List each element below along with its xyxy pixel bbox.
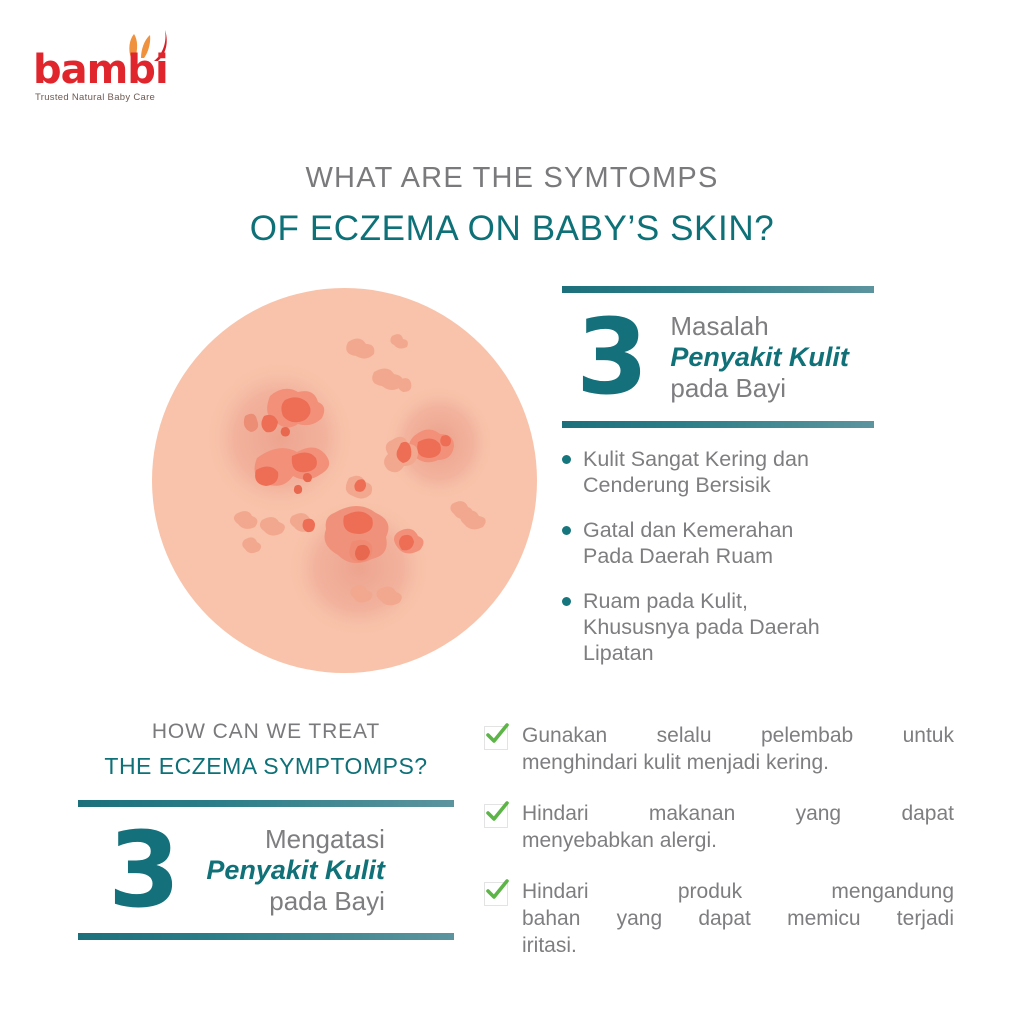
checkmark-icon xyxy=(484,882,508,906)
symptom-text: Gatal dan Kemerahan Pada Daerah Ruam xyxy=(583,517,793,569)
symptom-label-line-1: Masalah xyxy=(670,311,849,342)
title-line-1: WHAT ARE THE SYMTOMPS xyxy=(0,160,1024,196)
symptom-2-line-2: Pada Daerah Ruam xyxy=(583,544,773,568)
treat-title-line-2: THE ECZEMA SYMPTOMPS? xyxy=(78,750,454,782)
divider-top xyxy=(562,286,874,293)
page-title: WHAT ARE THE SYMTOMPS OF ECZEMA ON BABY’… xyxy=(0,160,1024,252)
symptom-3-line-3: Lipatan xyxy=(583,641,654,665)
symptom-text: Kulit Sangat Kering dan Cenderung Bersis… xyxy=(583,446,809,498)
treatment-2-line-1: Hindari makanan yang dapat xyxy=(522,800,954,827)
list-item: Kulit Sangat Kering dan Cenderung Bersis… xyxy=(562,446,892,498)
treatment-2-line-2: menyebabkan alergi. xyxy=(522,827,954,854)
brand-tagline: Trusted Natural Baby Care xyxy=(35,92,155,103)
symptom-text: Ruam pada Kulit, Khususnya pada Daerah L… xyxy=(583,588,820,666)
list-item: Ruam pada Kulit, Khususnya pada Daerah L… xyxy=(562,588,892,666)
symptom-3-line-1: Ruam pada Kulit, xyxy=(583,589,748,613)
brand-logo: bambi Trusted Natural Baby Care xyxy=(33,28,178,106)
symptom-count-number: 3 xyxy=(576,305,648,409)
treatment-1-line-2: menghindari kulit menjadi kering. xyxy=(522,749,954,776)
checkmark-icon xyxy=(484,726,508,750)
treatment-text: Hindari produk mengandung bahan yang dap… xyxy=(522,878,954,959)
treat-label-line-2: Penyakit Kulit xyxy=(206,855,385,886)
treat-label-line-1: Mengatasi xyxy=(206,824,385,855)
treatment-text: Hindari makanan yang dapat menyebabkan a… xyxy=(522,800,954,854)
treatment-list: Gunakan selalu pelembab untuk menghindar… xyxy=(484,722,954,983)
treatment-1-line-1: Gunakan selalu pelembab untuk xyxy=(522,722,954,749)
checkmark-icon xyxy=(484,804,508,828)
symptom-list: Kulit Sangat Kering dan Cenderung Bersis… xyxy=(562,446,892,685)
bullet-dot-icon xyxy=(562,597,571,606)
treat-title-line-1: HOW CAN WE TREAT xyxy=(78,718,454,746)
bullet-dot-icon xyxy=(562,455,571,464)
bullet-dot-icon xyxy=(562,526,571,535)
symptom-1-line-1: Kulit Sangat Kering dan xyxy=(583,447,809,471)
divider-top xyxy=(78,800,454,807)
symptom-2-line-1: Gatal dan Kemerahan xyxy=(583,518,793,542)
treat-label-line-3: pada Bayi xyxy=(206,886,385,917)
symptom-1-line-2: Cenderung Bersisik xyxy=(583,473,771,497)
symptom-3-line-2: Khususnya pada Daerah xyxy=(583,615,820,639)
symptom-label-line-2: Penyakit Kulit xyxy=(670,342,849,373)
treatment-heading: HOW CAN WE TREAT THE ECZEMA SYMPTOMPS? xyxy=(78,718,454,782)
eczema-rash-illustration xyxy=(152,288,537,673)
treatment-count-label: Mengatasi Penyakit Kulit pada Bayi xyxy=(206,824,385,917)
symptom-count-block: 3 Masalah Penyakit Kulit pada Bayi xyxy=(562,286,874,428)
list-item: Gunakan selalu pelembab untuk menghindar… xyxy=(484,722,954,776)
treatment-3-line-2: bahan yang dapat memicu terjadi xyxy=(522,905,954,932)
brand-name: bambi xyxy=(33,50,168,90)
title-line-2: OF ECZEMA ON BABY’S SKIN? xyxy=(0,206,1024,252)
list-item: Gatal dan Kemerahan Pada Daerah Ruam xyxy=(562,517,892,569)
treatment-3-line-3: iritasi. xyxy=(522,932,954,959)
list-item: Hindari makanan yang dapat menyebabkan a… xyxy=(484,800,954,854)
divider-bottom xyxy=(562,421,874,428)
divider-bottom xyxy=(78,933,454,940)
symptom-label-line-3: pada Bayi xyxy=(670,373,849,404)
treatment-count-number: 3 xyxy=(108,818,180,922)
treatment-text: Gunakan selalu pelembab untuk menghindar… xyxy=(522,722,954,776)
treatment-3-line-1: Hindari produk mengandung xyxy=(522,878,954,905)
symptom-count-label: Masalah Penyakit Kulit pada Bayi xyxy=(670,311,849,404)
list-item: Hindari produk mengandung bahan yang dap… xyxy=(484,878,954,959)
treatment-count-block: 3 Mengatasi Penyakit Kulit pada Bayi xyxy=(78,800,454,940)
